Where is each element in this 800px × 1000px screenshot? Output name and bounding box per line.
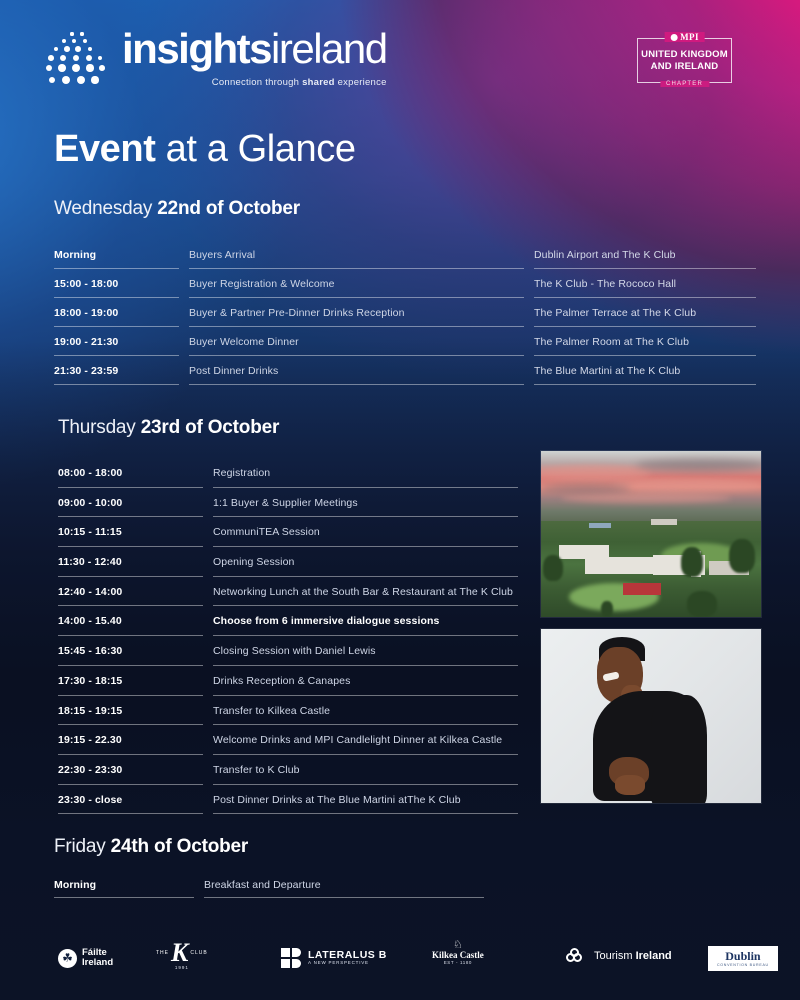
day-heading-thursday: Thursday 23rd of October	[58, 417, 279, 439]
day-name-thursday: Thursday	[58, 417, 141, 438]
schedule-activity-thursday-0: Registration	[213, 458, 528, 488]
dot-cone-icon	[46, 28, 108, 88]
schedule-time-thursday-10: 22:30 - 23:30	[58, 755, 213, 785]
page-title-light: at a Glance	[155, 128, 355, 170]
schedule-activity-thursday-8: Transfer to Kilkea Castle	[213, 696, 528, 726]
schedule-location-wednesday-1: The K Club - The Rococo Hall	[534, 269, 766, 298]
schedule-time-wednesday-2: 18:00 - 19:00	[54, 298, 189, 327]
tourism-light: Tourism	[594, 950, 636, 962]
dublin-name: Dublin	[717, 950, 769, 962]
schedule-activity-thursday-11: Post Dinner Drinks at The Blue Martini a…	[213, 785, 528, 815]
failte-line2: Ireland	[82, 958, 113, 968]
mpi-chapter-badge: MPI UNITED KINGDOM AND IRELAND CHAPTER	[637, 38, 732, 83]
day-name-friday: Friday	[54, 836, 111, 857]
schedule-activity-thursday-9: Welcome Drinks and MPI Candlelight Dinne…	[213, 725, 528, 755]
schedule-activity-wednesday-0: Buyers Arrival	[189, 240, 534, 269]
table-row: MorningBreakfast and Departure	[54, 870, 494, 898]
mpi-chapter-label: CHAPTER	[660, 81, 709, 87]
table-row: 09:00 - 10:001:1 Buyer & Supplier Meetin…	[58, 488, 528, 518]
kilkea-est: EST - 1180	[432, 961, 484, 966]
logo-kilkea-castle: ♘ Kilkea Castle EST - 1180	[432, 940, 484, 966]
schedule-time-thursday-5: 14:00 - 15.40	[58, 606, 213, 636]
schedule-time-friday-0: Morning	[54, 870, 204, 898]
logo-failte-ireland: ☘ Fáilte Ireland	[58, 948, 113, 968]
logo-dublin-convention-bureau: Dublin CONVENTION BUREAU	[708, 946, 778, 971]
schedule-activity-wednesday-2: Buyer & Partner Pre-Dinner Drinks Recept…	[189, 298, 534, 327]
schedule-time-thursday-7: 17:30 - 18:15	[58, 666, 213, 696]
insights-ireland-logo: insightsireland Connection through share…	[46, 28, 387, 88]
table-row: 12:40 - 14:00Networking Lunch at the Sou…	[58, 577, 528, 607]
table-row: 21:30 - 23:59Post Dinner DrinksThe Blue …	[54, 356, 769, 385]
table-row: 08:00 - 18:00Registration	[58, 458, 528, 488]
dublin-sub: CONVENTION BUREAU	[717, 964, 769, 968]
table-row: 17:30 - 18:15Drinks Reception & Canapes	[58, 666, 528, 696]
kclub-club: CLUB	[190, 951, 207, 956]
brand-name-light: ireland	[271, 25, 387, 72]
schedule-time-thursday-11: 23:30 - close	[58, 785, 213, 815]
schedule-time-wednesday-1: 15:00 - 18:00	[54, 269, 189, 298]
page-title-bold: Event	[54, 128, 155, 170]
schedule-activity-thursday-5: Choose from 6 immersive dialogue session…	[213, 606, 528, 636]
kclub-k-monogram: K	[171, 940, 188, 966]
schedule-location-wednesday-0: Dublin Airport and The K Club	[534, 240, 766, 269]
schedule-time-thursday-8: 18:15 - 19:15	[58, 696, 213, 726]
schedule-table-friday: MorningBreakfast and Departure	[54, 870, 494, 898]
sponsor-footer: ☘ Fáilte Ireland THE K CLUB 1991	[0, 928, 800, 1000]
day-heading-wednesday: Wednesday 22nd of October	[54, 198, 300, 220]
table-row: 18:15 - 19:15Transfer to Kilkea Castle	[58, 696, 528, 726]
lateralus-sub: A NEW PERSPECTIVE	[308, 961, 387, 966]
schedule-location-wednesday-2: The Palmer Terrace at The K Club	[534, 298, 766, 327]
table-row: 18:00 - 19:00Buyer & Partner Pre-Dinner …	[54, 298, 769, 327]
schedule-time-thursday-1: 09:00 - 10:00	[58, 488, 213, 518]
page-header: insightsireland Connection through share…	[0, 0, 800, 112]
table-row: 19:15 - 22.30Welcome Drinks and MPI Cand…	[58, 725, 528, 755]
schedule-table-thursday: 08:00 - 18:00Registration09:00 - 10:001:…	[58, 458, 528, 814]
table-row: 23:30 - closePost Dinner Drinks at The B…	[58, 785, 528, 815]
table-row: 11:30 - 12:40Opening Session	[58, 547, 528, 577]
schedule-time-thursday-3: 11:30 - 12:40	[58, 547, 213, 577]
schedule-activity-wednesday-1: Buyer Registration & Welcome	[189, 269, 534, 298]
schedule-time-wednesday-4: 21:30 - 23:59	[54, 356, 189, 385]
day-date-wednesday: 22nd of October	[157, 198, 300, 219]
failte-shamrock-icon: ☘	[58, 949, 77, 968]
brand-name-bold: insights	[122, 25, 271, 72]
day-date-friday: 24th of October	[111, 836, 248, 857]
day-heading-friday: Friday 24th of October	[54, 836, 248, 858]
schedule-time-wednesday-0: Morning	[54, 240, 189, 269]
brand-tagline: Connection through shared experience	[122, 77, 387, 88]
table-row: 14:00 - 15.40Choose from 6 immersive dia…	[58, 606, 528, 636]
mpi-wordmark: MPI	[680, 32, 699, 42]
table-row: 19:00 - 21:30Buyer Welcome DinnerThe Pal…	[54, 327, 769, 356]
schedule-time-thursday-9: 19:15 - 22.30	[58, 725, 213, 755]
day-date-thursday: 23rd of October	[141, 417, 279, 438]
schedule-time-thursday-0: 08:00 - 18:00	[58, 458, 213, 488]
schedule-time-thursday-6: 15:45 - 16:30	[58, 636, 213, 666]
schedule-activity-thursday-6: Closing Session with Daniel Lewis	[213, 636, 528, 666]
logo-lateralus-b: LATERALUS B A NEW PERSPECTIVE	[281, 948, 387, 968]
tourism-ireland-icon	[566, 948, 588, 964]
table-row: 10:15 - 11:15CommuniTEA Session	[58, 517, 528, 547]
day-name-wednesday: Wednesday	[54, 198, 157, 219]
speaker-portrait-photo	[540, 628, 762, 804]
table-row: 22:30 - 23:30Transfer to K Club	[58, 755, 528, 785]
schedule-time-wednesday-3: 19:00 - 21:30	[54, 327, 189, 356]
schedule-activity-friday-0: Breakfast and Departure	[204, 870, 494, 898]
schedule-activity-thursday-10: Transfer to K Club	[213, 755, 528, 785]
schedule-location-wednesday-4: The Blue Martini at The K Club	[534, 356, 766, 385]
schedule-activity-thursday-7: Drinks Reception & Canapes	[213, 666, 528, 696]
mpi-region-line2: AND IRELAND	[638, 61, 731, 73]
mpi-region-line1: UNITED KINGDOM	[638, 49, 731, 61]
tourism-bold: Ireland	[636, 950, 672, 962]
logo-the-k-club: THE K CLUB 1991	[156, 940, 208, 971]
schedule-activity-wednesday-3: Buyer Welcome Dinner	[189, 327, 534, 356]
kclub-est: 1991	[156, 966, 208, 971]
table-row: 15:45 - 16:30Closing Session with Daniel…	[58, 636, 528, 666]
kclub-the: THE	[156, 951, 169, 956]
table-row: 15:00 - 18:00Buyer Registration & Welcom…	[54, 269, 769, 298]
schedule-table-wednesday: MorningBuyers ArrivalDublin Airport and …	[54, 240, 769, 385]
schedule-activity-thursday-1: 1:1 Buyer & Supplier Meetings	[213, 488, 528, 518]
schedule-time-thursday-4: 12:40 - 14:00	[58, 577, 213, 607]
schedule-activity-thursday-4: Networking Lunch at the South Bar & Rest…	[213, 577, 528, 607]
schedule-time-thursday-2: 10:15 - 11:15	[58, 517, 213, 547]
schedule-activity-wednesday-4: Post Dinner Drinks	[189, 356, 534, 385]
page-title: Event at a Glance	[54, 130, 356, 170]
table-row: MorningBuyers ArrivalDublin Airport and …	[54, 240, 769, 269]
k-club-aerial-photo	[540, 450, 762, 618]
schedule-activity-thursday-3: Opening Session	[213, 547, 528, 577]
schedule-activity-thursday-2: CommuniTEA Session	[213, 517, 528, 547]
logo-tourism-ireland: Tourism Ireland	[566, 948, 672, 964]
lateralus-mark-icon	[281, 948, 301, 968]
mpi-dot-icon	[670, 34, 677, 41]
schedule-location-wednesday-3: The Palmer Room at The K Club	[534, 327, 766, 356]
